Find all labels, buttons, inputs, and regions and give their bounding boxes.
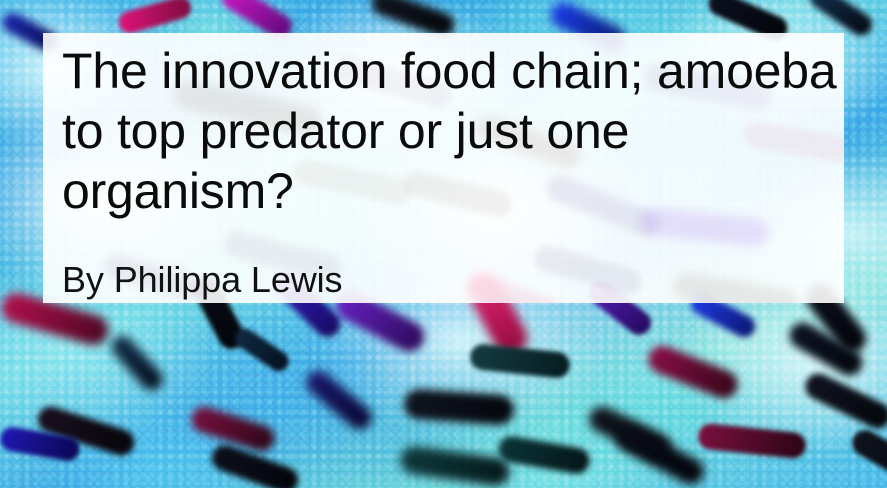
bacteria-rod [612, 421, 709, 488]
bacteria-rod-faint [672, 270, 801, 303]
bacteria-rod-faint [532, 242, 645, 297]
bacteria-rod [116, 0, 193, 36]
banner-image: The innovation food chain; amoeba to top… [0, 0, 887, 488]
author-byline: By Philippa Lewis [62, 259, 342, 301]
bacteria-rod [232, 325, 293, 375]
bacteria-rod [107, 331, 168, 395]
bacteria-rod [644, 341, 742, 402]
headline-panel: The innovation food chain; amoeba to top… [43, 33, 844, 303]
bacteria-rod [496, 434, 591, 476]
page-title: The innovation food chain; amoeba to top… [62, 41, 837, 221]
bacteria-rod [801, 369, 887, 433]
bacteria-rod [697, 422, 807, 459]
bacteria-rod [469, 343, 571, 379]
bacteria-rod [301, 366, 376, 435]
bacteria-rod-faint [466, 271, 567, 303]
bacteria-rod [399, 444, 512, 487]
bacteria-rod [403, 388, 515, 426]
bacteria-rod [848, 425, 887, 488]
